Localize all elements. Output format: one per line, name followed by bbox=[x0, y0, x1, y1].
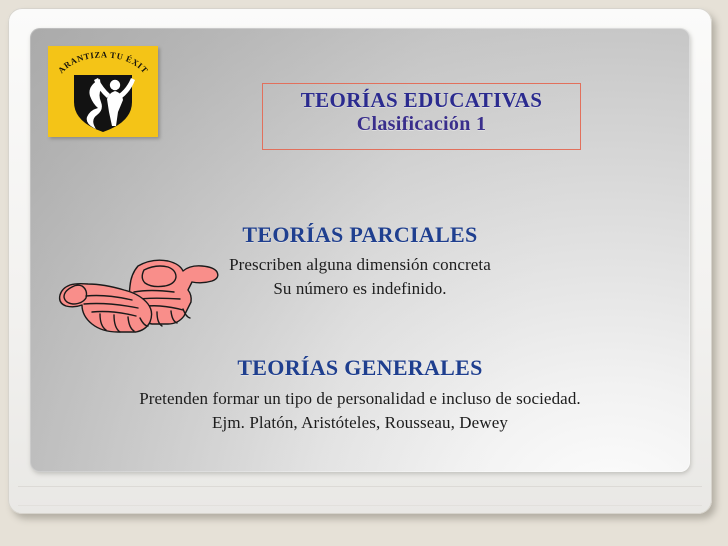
footer-divider-1 bbox=[18, 486, 702, 487]
section-line: Pretenden formar un tipo de personalidad… bbox=[30, 387, 690, 411]
section-line: Prescriben alguna dimensión concreta bbox=[30, 253, 690, 277]
section-teorias-parciales: TEORÍAS PARCIALES Prescriben alguna dime… bbox=[30, 220, 690, 301]
section-heading: TEORÍAS GENERALES bbox=[30, 353, 690, 383]
section-heading: TEORÍAS PARCIALES bbox=[30, 220, 690, 250]
page-subtitle: Clasificación 1 bbox=[263, 112, 580, 137]
slide-title-box: TEORÍAS EDUCATIVAS Clasificación 1 bbox=[262, 83, 581, 150]
garantiza-tu-exito-logo: GARANTIZA TU ÉXITO bbox=[48, 46, 158, 137]
slide-canvas: GARANTIZA TU ÉXITO TEORÍAS EDUCATIVAS Cl… bbox=[30, 28, 690, 472]
section-line: Su número es indefinido. bbox=[30, 277, 690, 301]
logo-figure-head bbox=[110, 80, 120, 90]
section-teorias-generales: TEORÍAS GENERALES Pretenden formar un ti… bbox=[30, 353, 690, 435]
slide-viewer-frame: GARANTIZA TU ÉXITO TEORÍAS EDUCATIVAS Cl… bbox=[8, 8, 712, 514]
footer-divider-2 bbox=[18, 505, 702, 506]
section-line: Ejm. Platón, Aristóteles, Rousseau, Dewe… bbox=[30, 411, 690, 435]
page-title: TEORÍAS EDUCATIVAS bbox=[263, 89, 580, 112]
